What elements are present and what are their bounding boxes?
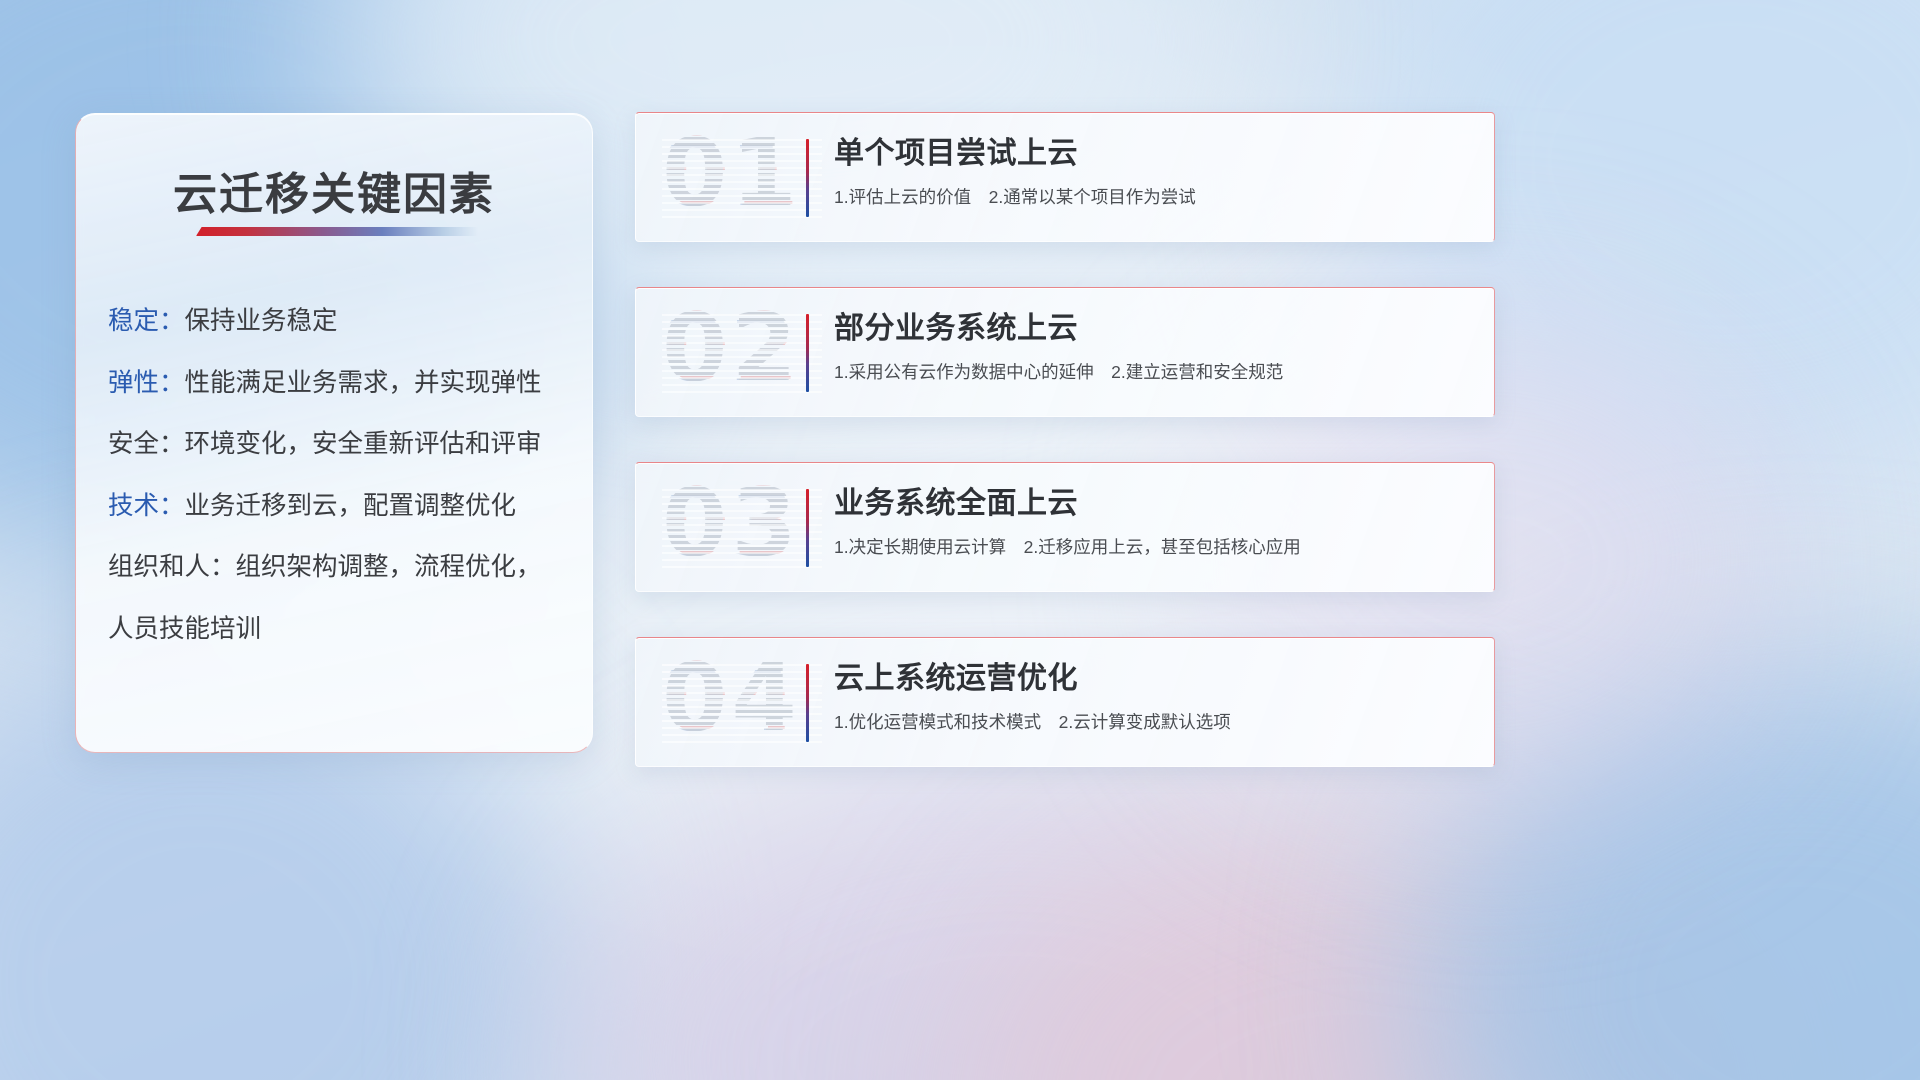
key-factors-panel: 云迁移关键因素 稳定：保持业务稳定弹性：性能满足业务需求，并实现弹性安全：环境变… — [75, 113, 593, 753]
stage-number-glyph-blue: 02 — [662, 300, 820, 403]
stage-card-body: 业务系统全面上云1.决定长期使用云计算 2.迁移应用上云，甚至包括核心应用 — [834, 487, 1472, 558]
stage-title: 云上系统运营优化 — [834, 662, 1472, 697]
stage-card-body: 云上系统运营优化1.优化运营模式和技术模式 2.云计算变成默认选项 — [834, 662, 1472, 733]
factor-row: 安全：环境变化，安全重新评估和评审 — [108, 432, 574, 458]
stage-divider-accent — [806, 314, 809, 392]
title-underline-accent — [196, 227, 478, 236]
stage-divider-accent — [806, 489, 809, 567]
stage-number-glyph-blue: 01 — [662, 125, 820, 228]
stage-number-decoration: 010101 — [662, 125, 822, 231]
stage-card[interactable]: 020202部分业务系统上云1.采用公有云作为数据中心的延伸 2.建立运营和安全… — [635, 287, 1495, 417]
stage-number-glyph-red: 02 — [664, 300, 822, 403]
stage-card-body: 部分业务系统上云1.采用公有云作为数据中心的延伸 2.建立运营和安全规范 — [834, 312, 1472, 383]
factor-row: 人员技能培训 — [108, 617, 574, 643]
stage-number-scanlines — [662, 314, 822, 394]
stage-number-scanlines — [662, 664, 822, 744]
page-title: 云迁移关键因素 — [76, 158, 592, 222]
stage-subtitle: 1.决定长期使用云计算 2.迁移应用上云，甚至包括核心应用 — [834, 536, 1472, 559]
factor-text: 人员技能培训 — [108, 617, 261, 643]
factor-row: 弹性：性能满足业务需求，并实现弹性 — [108, 371, 574, 397]
stage-card[interactable]: 030303业务系统全面上云1.决定长期使用云计算 2.迁移应用上云，甚至包括核… — [635, 462, 1495, 592]
stage-number-scanlines — [662, 139, 822, 219]
stage-number-glyph-blue: 04 — [662, 650, 820, 753]
factor-text: 保持业务稳定 — [185, 309, 338, 335]
stage-number-decoration: 030303 — [662, 475, 822, 581]
factor-text: 业务迁移到云，配置调整优化 — [185, 494, 517, 520]
stage-card-body: 单个项目尝试上云1.评估上云的价值 2.通常以某个项目作为尝试 — [834, 137, 1472, 208]
stage-divider-accent — [806, 139, 809, 217]
stage-subtitle: 1.优化运营模式和技术模式 2.云计算变成默认选项 — [834, 711, 1472, 734]
factor-text: 环境变化，安全重新评估和评审 — [185, 432, 542, 458]
stage-number-glyph: 01 — [662, 125, 822, 228]
factor-label: 安全： — [108, 432, 185, 458]
stage-number-glyph: 04 — [662, 650, 822, 753]
factor-row: 稳定：保持业务稳定 — [108, 309, 574, 335]
factor-row: 技术：业务迁移到云，配置调整优化 — [108, 494, 574, 520]
stage-number-glyph: 02 — [662, 300, 822, 403]
stage-subtitle: 1.评估上云的价值 2.通常以某个项目作为尝试 — [834, 186, 1472, 209]
stage-title: 业务系统全面上云 — [834, 487, 1472, 522]
stage-card-list: 010101单个项目尝试上云1.评估上云的价值 2.通常以某个项目作为尝试020… — [635, 112, 1495, 767]
factor-text: 组织架构调整，流程优化， — [236, 555, 542, 581]
stage-number-glyph-red: 04 — [664, 650, 822, 753]
stage-number-glyph: 03 — [662, 475, 822, 578]
factor-row: 组织和人：组织架构调整，流程优化， — [108, 555, 574, 581]
stage-card[interactable]: 040404云上系统运营优化1.优化运营模式和技术模式 2.云计算变成默认选项 — [635, 637, 1495, 767]
stage-title: 单个项目尝试上云 — [834, 137, 1472, 172]
factor-label: 组织和人： — [108, 555, 236, 581]
factor-label: 弹性： — [108, 371, 185, 397]
stage-subtitle: 1.采用公有云作为数据中心的延伸 2.建立运营和安全规范 — [834, 361, 1472, 384]
stage-divider-accent — [806, 664, 809, 742]
factor-label: 技术： — [108, 494, 185, 520]
factor-label: 稳定： — [108, 309, 185, 335]
stage-number-scanlines — [662, 489, 822, 569]
stage-number-glyph-red: 01 — [664, 125, 822, 228]
factor-text: 性能满足业务需求，并实现弹性 — [185, 371, 542, 397]
stage-card[interactable]: 010101单个项目尝试上云1.评估上云的价值 2.通常以某个项目作为尝试 — [635, 112, 1495, 242]
stage-number-decoration: 020202 — [662, 300, 822, 406]
stage-title: 部分业务系统上云 — [834, 312, 1472, 347]
factor-list: 稳定：保持业务稳定弹性：性能满足业务需求，并实现弹性安全：环境变化，安全重新评估… — [108, 309, 574, 642]
stage-number-glyph-red: 03 — [664, 475, 822, 578]
stage-number-decoration: 040404 — [662, 650, 822, 756]
stage-number-glyph-blue: 03 — [662, 475, 820, 578]
